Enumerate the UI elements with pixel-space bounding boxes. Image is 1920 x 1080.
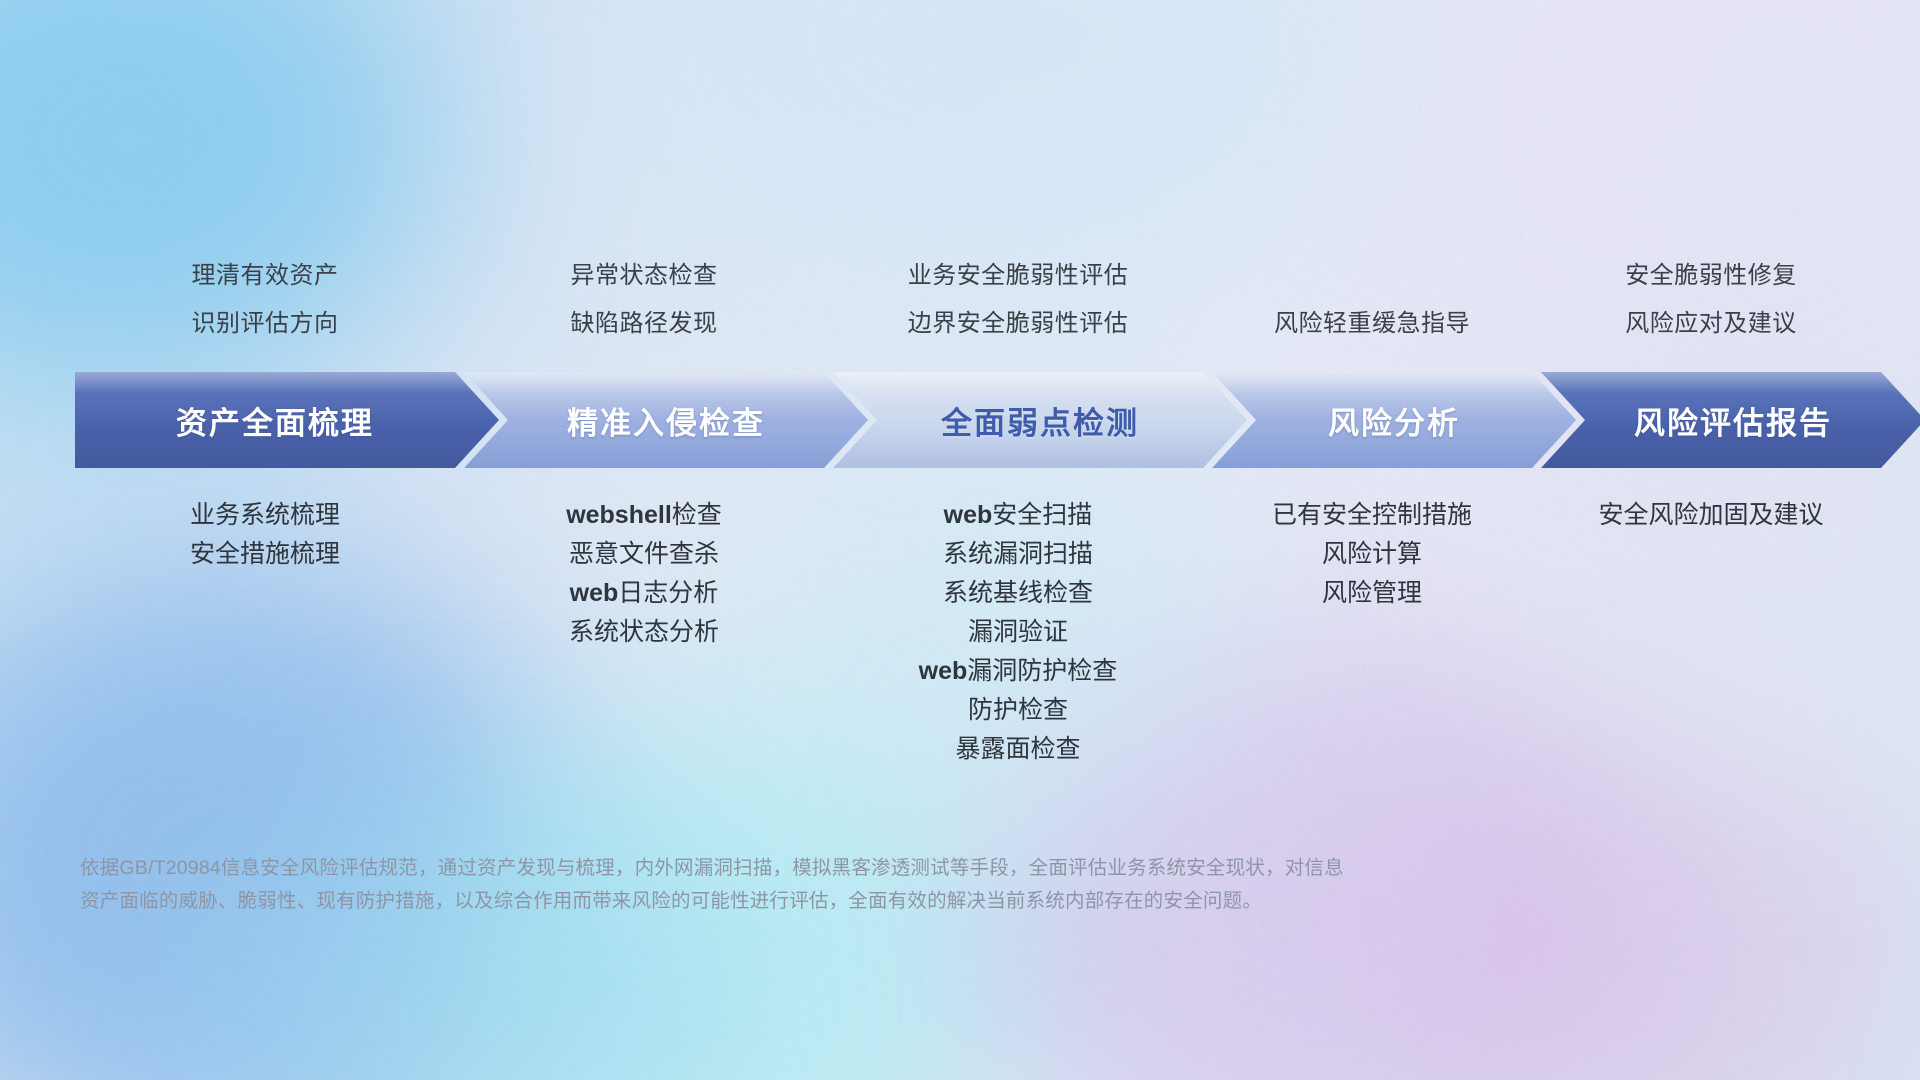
stage-top-item: 边界安全脆弱性评估 bbox=[833, 300, 1203, 348]
process-diagram: 理清有效资产识别评估方向业务系统梳理安全措施梳理异常状态检查缺陷路径发现webs… bbox=[0, 0, 1920, 1080]
stage-top-list: 理清有效资产识别评估方向 bbox=[75, 252, 455, 348]
stage-top-item: 缺陷路径发现 bbox=[464, 300, 824, 348]
stage-bottom-item: 风险计算 bbox=[1212, 535, 1532, 574]
stage-column-2: 异常状态检查缺陷路径发现webshell检查恶意文件查杀web日志分析系统状态分… bbox=[464, 0, 824, 1080]
chevron-band: 资产全面梳理精准入侵检查全面弱点检测风险分析风险评估报告 bbox=[75, 372, 1845, 468]
stage-top-list: 安全脆弱性修复风险应对及建议 bbox=[1541, 252, 1881, 348]
chevron-stage-5[interactable]: 风险评估报告 bbox=[1541, 372, 1920, 468]
stage-top-item: 异常状态检查 bbox=[464, 252, 824, 300]
stage-column-4: 风险轻重缓急指导已有安全控制措施风险计算风险管理 bbox=[1212, 0, 1532, 1080]
chevron-label: 风险分析 bbox=[1328, 398, 1460, 443]
footer-line-2: 资产面临的威胁、脆弱性、现有防护措施，以及综合作用而带来风险的可能性进行评估，全… bbox=[80, 885, 1600, 918]
chevron-stage-1[interactable]: 资产全面梳理 bbox=[75, 372, 499, 468]
chevron-label: 风险评估报告 bbox=[1634, 398, 1832, 443]
stage-bottom-item: 漏洞验证 bbox=[833, 613, 1203, 652]
stage-bottom-list: 已有安全控制措施风险计算风险管理 bbox=[1212, 496, 1532, 613]
stage-top-item: 识别评估方向 bbox=[75, 300, 455, 348]
stage-bottom-item: 业务系统梳理 bbox=[75, 496, 455, 535]
chevron-stage-3[interactable]: 全面弱点检测 bbox=[833, 372, 1247, 468]
chevron-label: 资产全面梳理 bbox=[176, 398, 374, 443]
stage-bottom-item: web日志分析 bbox=[464, 574, 824, 613]
stage-bottom-item: 防护检查 bbox=[833, 691, 1203, 730]
stage-bottom-item: web漏洞防护检查 bbox=[833, 652, 1203, 691]
stage-column-1: 理清有效资产识别评估方向业务系统梳理安全措施梳理 bbox=[75, 0, 455, 1080]
stage-top-item: 业务安全脆弱性评估 bbox=[833, 252, 1203, 300]
stage-top-list: 风险轻重缓急指导 bbox=[1212, 300, 1532, 348]
chevron-stage-2[interactable]: 精准入侵检查 bbox=[464, 372, 868, 468]
stage-bottom-list: 业务系统梳理安全措施梳理 bbox=[75, 496, 455, 574]
chevron-label: 精准入侵检查 bbox=[567, 398, 765, 443]
stage-bottom-item: 恶意文件查杀 bbox=[464, 535, 824, 574]
stage-bottom-item: 系统状态分析 bbox=[464, 613, 824, 652]
stage-bottom-item: 系统基线检查 bbox=[833, 574, 1203, 613]
stage-top-item: 安全脆弱性修复 bbox=[1541, 252, 1881, 300]
stage-bottom-item: 安全风险加固及建议 bbox=[1541, 496, 1881, 535]
stage-bottom-item: 风险管理 bbox=[1212, 574, 1532, 613]
stage-bottom-list: web安全扫描系统漏洞扫描系统基线检查漏洞验证web漏洞防护检查防护检查暴露面检… bbox=[833, 496, 1203, 769]
chevron-label: 全面弱点检测 bbox=[941, 398, 1139, 443]
stage-bottom-item: 系统漏洞扫描 bbox=[833, 535, 1203, 574]
chevron-stage-4[interactable]: 风险分析 bbox=[1212, 372, 1576, 468]
stage-columns: 理清有效资产识别评估方向业务系统梳理安全措施梳理异常状态检查缺陷路径发现webs… bbox=[75, 0, 1845, 1080]
stage-bottom-item: web安全扫描 bbox=[833, 496, 1203, 535]
stage-top-list: 业务安全脆弱性评估边界安全脆弱性评估 bbox=[833, 252, 1203, 348]
stage-bottom-list: 安全风险加固及建议 bbox=[1541, 496, 1881, 535]
stage-top-item: 理清有效资产 bbox=[75, 252, 455, 300]
footer-line-1: 依据GB/T20984信息安全风险评估规范，通过资产发现与梳理，内外网漏洞扫描，… bbox=[80, 852, 1600, 885]
stage-bottom-list: webshell检查恶意文件查杀web日志分析系统状态分析 bbox=[464, 496, 824, 652]
stage-top-item: 风险应对及建议 bbox=[1541, 300, 1881, 348]
stage-bottom-item: 已有安全控制措施 bbox=[1212, 496, 1532, 535]
stage-top-list: 异常状态检查缺陷路径发现 bbox=[464, 252, 824, 348]
stage-top-item: 风险轻重缓急指导 bbox=[1212, 300, 1532, 348]
stage-bottom-item: 暴露面检查 bbox=[833, 730, 1203, 769]
stage-column-5: 安全脆弱性修复风险应对及建议安全风险加固及建议 bbox=[1541, 0, 1881, 1080]
footer-description: 依据GB/T20984信息安全风险评估规范，通过资产发现与梳理，内外网漏洞扫描，… bbox=[80, 852, 1600, 918]
stage-bottom-item: webshell检查 bbox=[464, 496, 824, 535]
stage-column-3: 业务安全脆弱性评估边界安全脆弱性评估web安全扫描系统漏洞扫描系统基线检查漏洞验… bbox=[833, 0, 1203, 1080]
stage-bottom-item: 安全措施梳理 bbox=[75, 535, 455, 574]
